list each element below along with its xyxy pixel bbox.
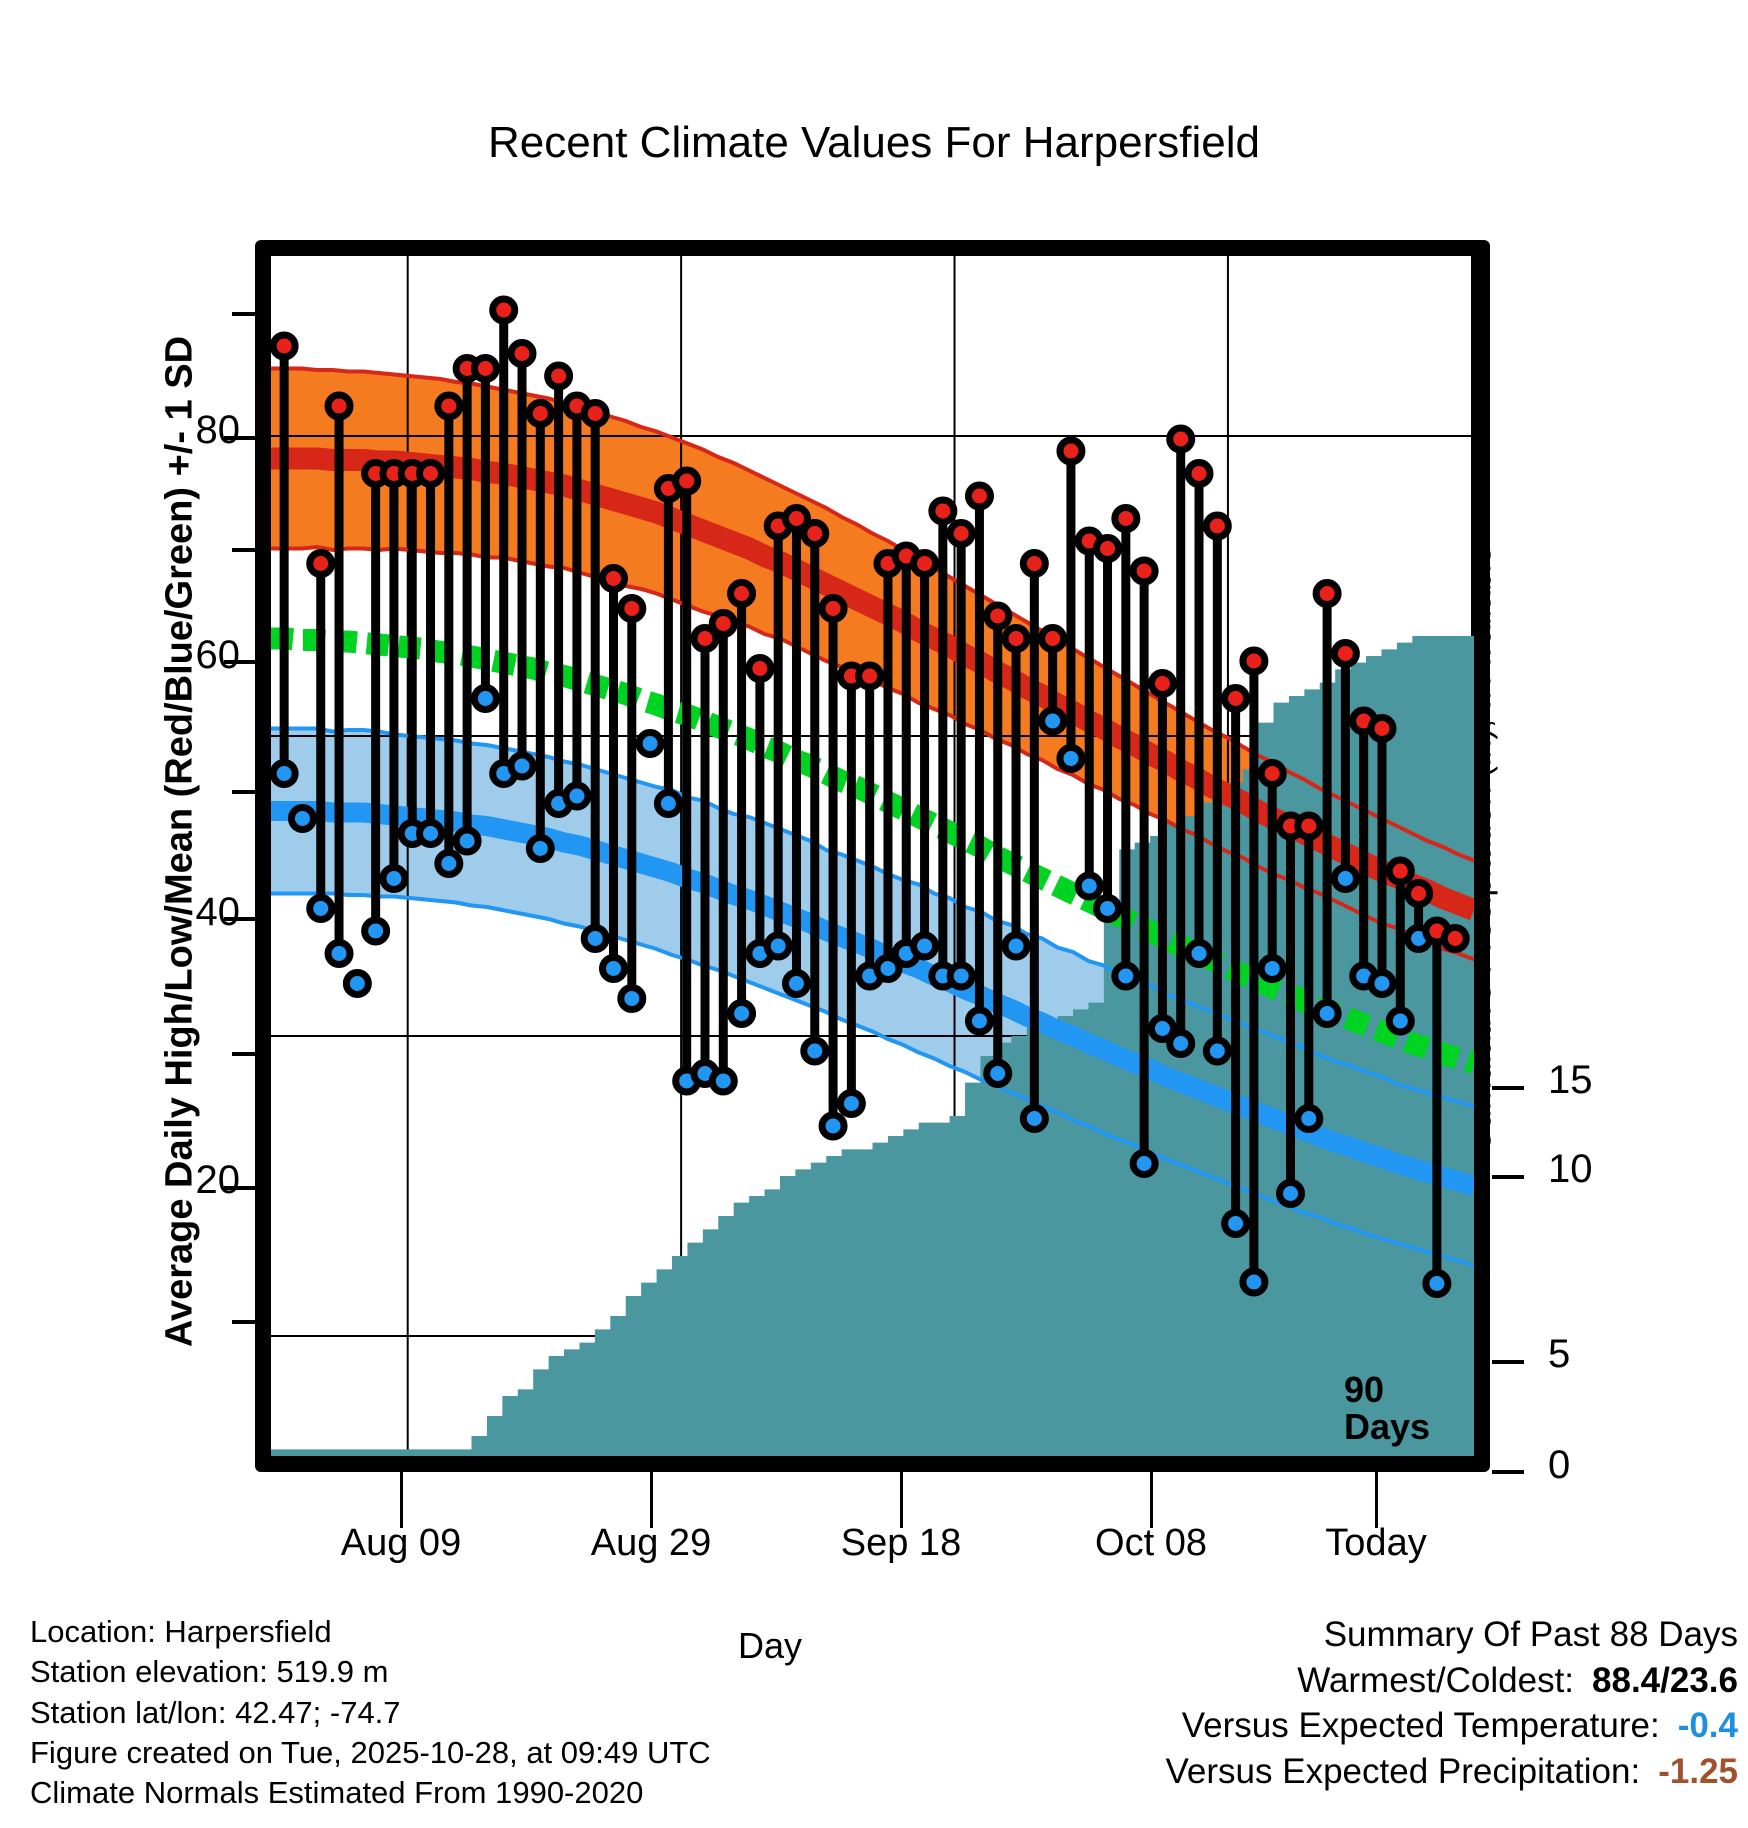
x-tick-label-today: Today: [1266, 1522, 1486, 1565]
y2-tick-mark: [1492, 1360, 1524, 1364]
y2-tick-label-5: 5: [1548, 1332, 1668, 1377]
summary-temperature-value: -0.4: [1678, 1706, 1738, 1745]
x-tick-label-sep-18: Sep 18: [791, 1522, 1011, 1565]
y-tick-mark: [224, 917, 256, 921]
y-tick-mark: [224, 660, 256, 664]
footer-normals: Climate Normals Estimated From 1990-2020: [30, 1773, 711, 1813]
plot-frame: [255, 240, 1490, 1472]
y2-tick-label-0: 0: [1548, 1443, 1668, 1488]
days-badge: 90 Days: [1344, 1372, 1430, 1445]
y-minor-tick-mark: [232, 1052, 256, 1056]
plot-area: [255, 240, 1490, 1472]
x-tick-label-oct-08: Oct 08: [1041, 1522, 1261, 1565]
y2-tick-mark: [1492, 1175, 1524, 1179]
y-minor-tick-mark: [232, 548, 256, 552]
x-tick-mark: [1375, 1472, 1378, 1528]
y2-tick-label-10: 10: [1548, 1147, 1668, 1192]
days-badge-number: 90: [1344, 1372, 1430, 1409]
y-minor-tick-mark: [232, 312, 256, 316]
y-tick-label-20: 20: [100, 1158, 240, 1203]
summary-temperature: Versus Expected Temperature:-0.4: [1166, 1703, 1739, 1749]
footer-metadata: Location: Harpersfield Station elevation…: [30, 1612, 711, 1813]
y2-tick-label-15: 15: [1548, 1058, 1668, 1103]
summary-warmest-coldest: Warmest/Coldest:88.4/23.6: [1166, 1658, 1739, 1704]
y-axis-left-title: Average Daily High/Low/Mean (Red/Blue/Gr…: [159, 192, 202, 1492]
summary-heading: Summary Of Past 88 Days: [1166, 1612, 1739, 1658]
summary-temperature-label: Versus Expected Temperature:: [1182, 1706, 1660, 1745]
y-tick-mark: [224, 1186, 256, 1190]
x-tick-mark: [900, 1472, 903, 1528]
footer-created: Figure created on Tue, 2025-10-28, at 09…: [30, 1733, 711, 1773]
y-tick-mark: [224, 436, 256, 440]
summary-precipitation-value: -1.25: [1658, 1752, 1738, 1791]
footer-elevation: Station elevation: 519.9 m: [30, 1652, 711, 1692]
summary-warmest-coldest-label: Warmest/Coldest:: [1297, 1661, 1574, 1700]
x-tick-label-aug-29: Aug 29: [541, 1522, 761, 1565]
y-minor-tick-mark: [232, 1320, 256, 1324]
summary-precipitation: Versus Expected Precipitation:-1.25: [1166, 1749, 1739, 1795]
y-tick-label-80: 80: [100, 408, 240, 453]
y-tick-label-40: 40: [100, 890, 240, 935]
footer-latlon: Station lat/lon: 42.47; -74.7: [30, 1693, 711, 1733]
summary-warmest-coldest-value: 88.4/23.6: [1592, 1661, 1738, 1700]
summary-panel: Summary Of Past 88 Days Warmest/Coldest:…: [1166, 1612, 1739, 1794]
x-tick-mark: [1150, 1472, 1153, 1528]
y2-tick-mark: [1492, 1086, 1524, 1090]
y-tick-label-60: 60: [100, 633, 240, 678]
summary-precipitation-label: Versus Expected Precipitation:: [1166, 1752, 1641, 1791]
y2-tick-mark: [1492, 1470, 1524, 1474]
days-badge-unit: Days: [1344, 1409, 1430, 1446]
x-tick-mark: [400, 1472, 403, 1528]
footer-location: Location: Harpersfield: [30, 1612, 711, 1652]
x-tick-mark: [650, 1472, 653, 1528]
y-minor-tick-mark: [232, 790, 256, 794]
x-tick-label-aug-09: Aug 09: [291, 1522, 511, 1565]
figure-canvas: Recent Climate Values For Harpersfield A…: [0, 0, 1748, 1828]
page-title: Recent Climate Values For Harpersfield: [0, 118, 1748, 168]
